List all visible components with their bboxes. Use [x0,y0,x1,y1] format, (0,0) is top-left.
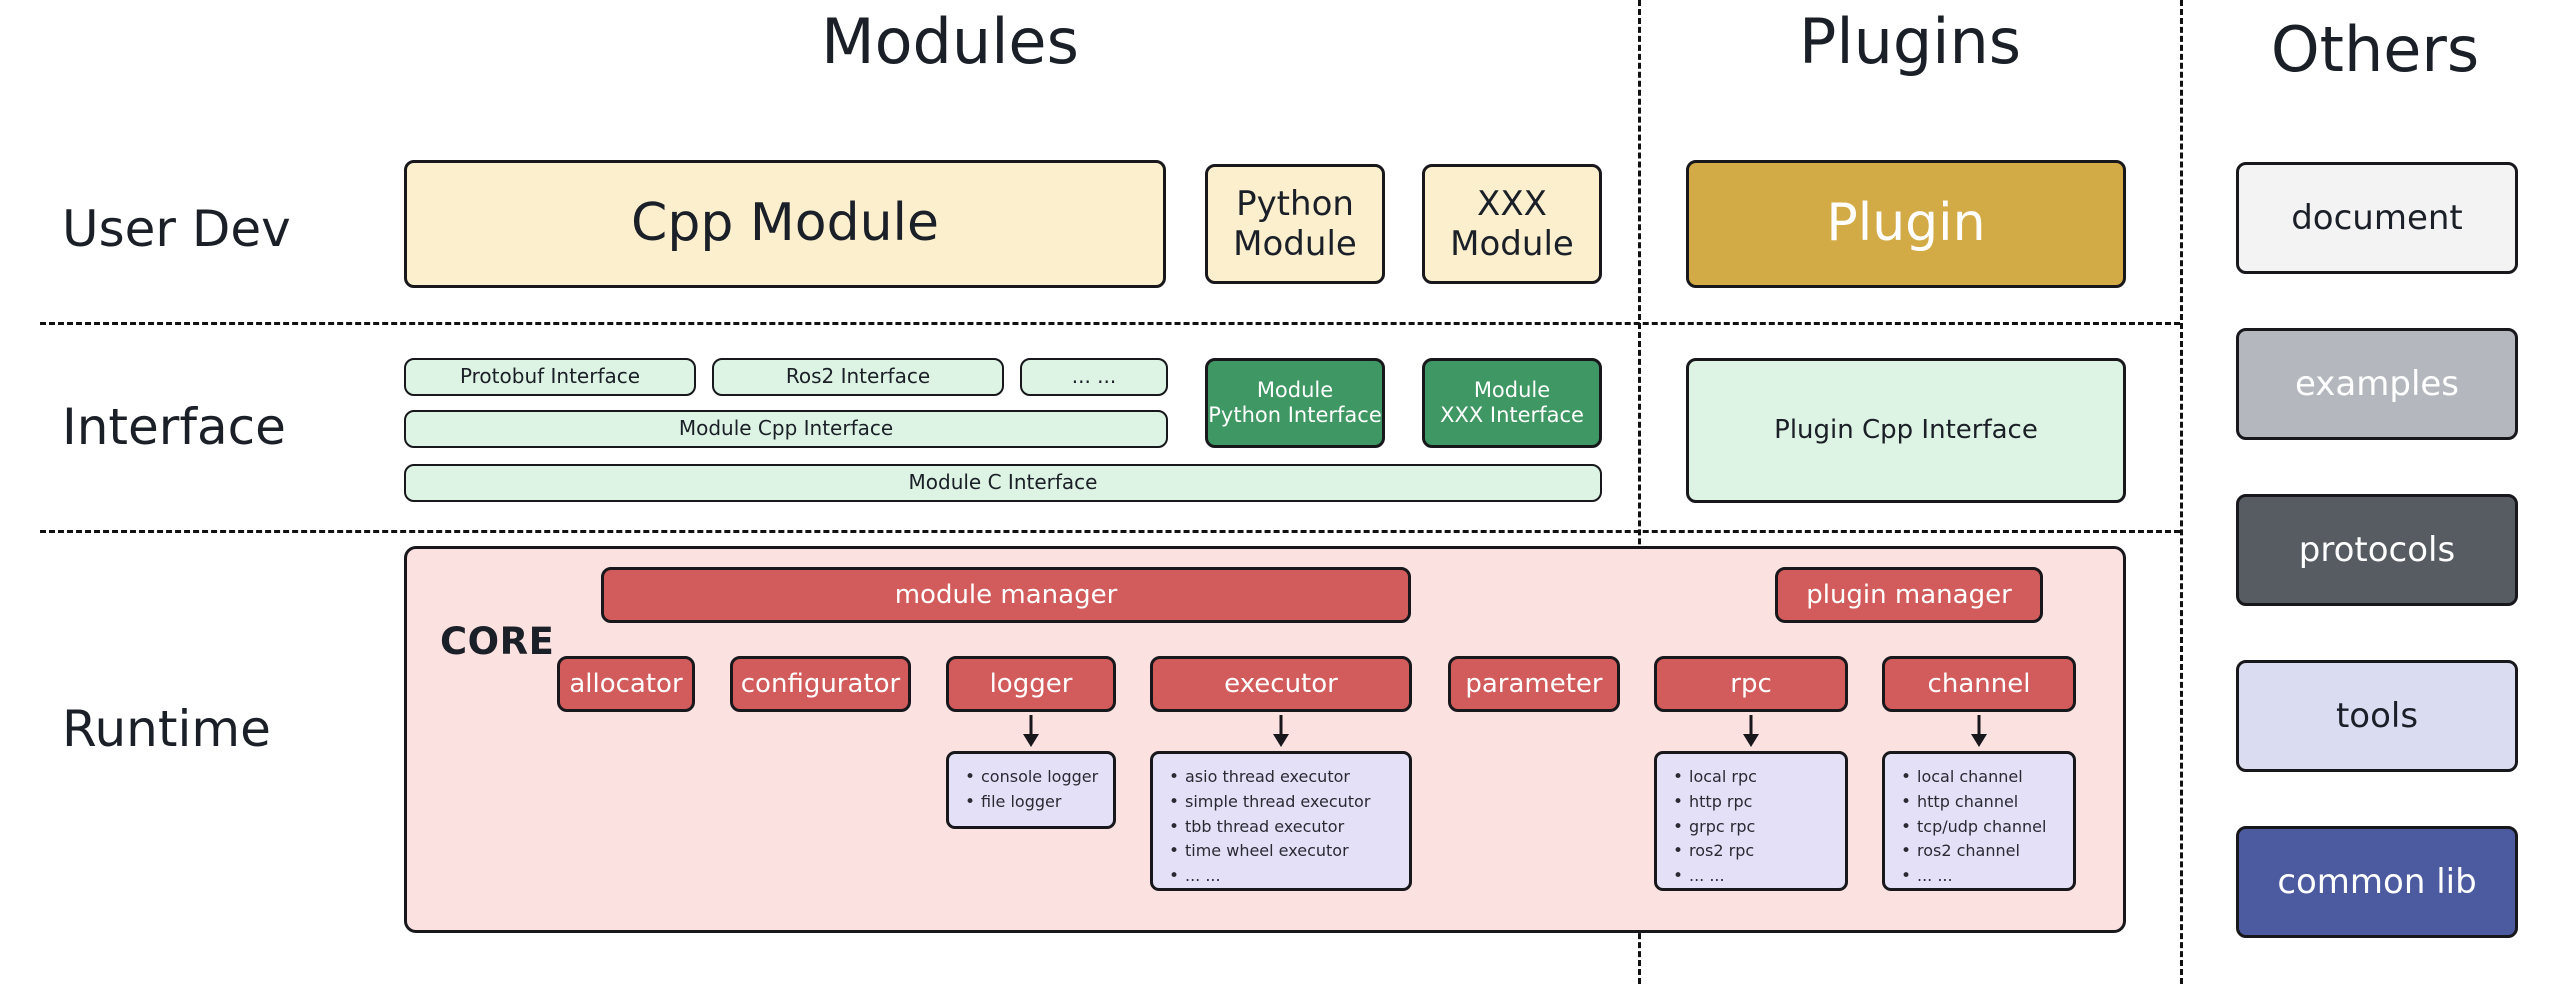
list-item: ros2 channel [1917,839,2063,864]
module-xxx-interface-box[interactable]: Module XXX Interface [1422,358,1602,448]
xxx-module-label-line2: Module [1450,224,1574,264]
arrow-channel-down [1966,714,1992,748]
module-xxx-interface-line1: Module [1474,378,1550,403]
xxx-module-box[interactable]: XXX Module [1422,164,1602,284]
row-label-interface: Interface [62,398,286,456]
component-allocator-box[interactable]: allocator [557,656,695,712]
executor-detail-box: asio thread executor simple thread execu… [1150,751,1412,891]
channel-detail-list: local channel http channel tcp/udp chann… [1897,765,2063,889]
rpc-detail-box: local rpc http rpc grpc rpc ros2 rpc ...… [1654,751,1848,891]
ros2-interface-box[interactable]: Ros2 Interface [712,358,1004,396]
plugin-cpp-interface-box[interactable]: Plugin Cpp Interface [1686,358,2126,503]
list-item: console logger [981,765,1103,790]
list-item: http channel [1917,790,2063,815]
others-item-common-lib[interactable]: common lib [2236,826,2518,938]
python-module-box[interactable]: Python Module [1205,164,1385,284]
channel-detail-box: local channel http channel tcp/udp chann… [1882,751,2076,891]
column-title-modules: Modules [640,5,1260,78]
module-python-interface-line1: Module [1257,378,1333,403]
xxx-module-label-line1: XXX [1477,184,1547,224]
component-logger-box[interactable]: logger [946,656,1116,712]
component-executor-box[interactable]: executor [1150,656,1412,712]
arrow-logger-down [1018,714,1044,748]
component-parameter-box[interactable]: parameter [1448,656,1620,712]
list-item: asio thread executor [1185,765,1399,790]
logger-detail-box: console logger file logger [946,751,1116,829]
list-item: ... ... [1689,864,1835,889]
others-item-examples[interactable]: examples [2236,328,2518,440]
executor-detail-list: asio thread executor simple thread execu… [1165,765,1399,889]
others-item-tools[interactable]: tools [2236,660,2518,772]
column-title-others: Others [2210,13,2540,86]
python-module-label-line2: Module [1233,224,1357,264]
list-item: http rpc [1689,790,1835,815]
component-channel-box[interactable]: channel [1882,656,2076,712]
row-label-user-dev: User Dev [62,200,291,258]
module-cpp-interface-box[interactable]: Module Cpp Interface [404,410,1168,448]
python-module-label-line1: Python [1236,184,1354,224]
module-python-interface-line2: Python Interface [1208,403,1382,428]
arrow-executor-down [1268,714,1294,748]
component-rpc-box[interactable]: rpc [1654,656,1848,712]
ellipsis-interface-box[interactable]: ... ... [1020,358,1168,396]
list-item: ... ... [1185,864,1399,889]
module-python-interface-box[interactable]: Module Python Interface [1205,358,1385,448]
list-item: simple thread executor [1185,790,1399,815]
list-item: local rpc [1689,765,1835,790]
list-item: ... ... [1917,864,2063,889]
plugin-manager-box[interactable]: plugin manager [1775,567,2043,623]
protobuf-interface-box[interactable]: Protobuf Interface [404,358,696,396]
list-item: grpc rpc [1689,815,1835,840]
plugin-box[interactable]: Plugin [1686,160,2126,288]
others-item-document[interactable]: document [2236,162,2518,274]
arrow-rpc-down [1738,714,1764,748]
column-title-plugins: Plugins [1690,5,2130,78]
logger-detail-list: console logger file logger [961,765,1103,815]
list-item: ros2 rpc [1689,839,1835,864]
architecture-diagram: Modules Plugins Others User Dev Interfac… [0,0,2560,984]
module-c-interface-box[interactable]: Module C Interface [404,464,1602,502]
list-item: local channel [1917,765,2063,790]
list-item: tbb thread executor [1185,815,1399,840]
core-label: CORE [440,620,554,663]
list-item: time wheel executor [1185,839,1399,864]
row-label-runtime: Runtime [62,700,271,758]
plugins-others-divider [2180,0,2183,984]
list-item: file logger [981,790,1103,815]
rpc-detail-list: local rpc http rpc grpc rpc ros2 rpc ...… [1669,765,1835,889]
others-item-protocols[interactable]: protocols [2236,494,2518,606]
interface-runtime-divider [40,530,2180,533]
userdev-interface-divider [40,322,2180,325]
cpp-module-box[interactable]: Cpp Module [404,160,1166,288]
module-manager-box[interactable]: module manager [601,567,1411,623]
list-item: tcp/udp channel [1917,815,2063,840]
component-configurator-box[interactable]: configurator [730,656,911,712]
module-xxx-interface-line2: XXX Interface [1440,403,1584,428]
